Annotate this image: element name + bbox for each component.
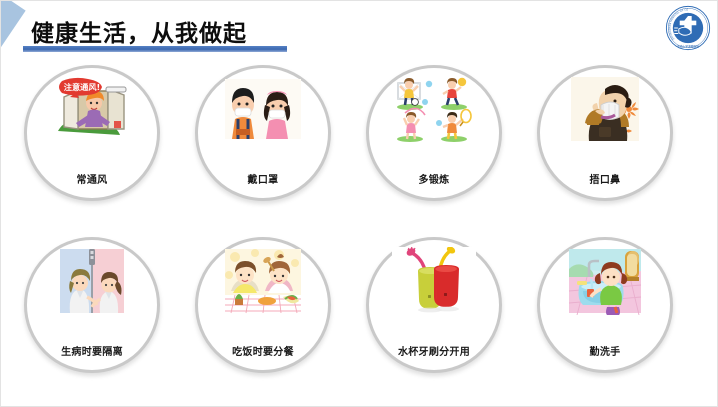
tip-card-cover-mouth[interactable]: 捂口鼻 [520, 61, 690, 211]
page-title: 健康生活，从我做起 [31, 14, 247, 48]
tip-label: 常通风 [7, 171, 177, 186]
prevention-tips-grid: 注意通风! 常通风 [1, 61, 718, 406]
tip-card-separate-meals[interactable]: 吃饭时要分餐 [178, 233, 348, 383]
tip-card-exercise[interactable]: 多锻炼 [349, 61, 519, 211]
separate-meals-icon [221, 247, 305, 315]
isolate-when-sick-icon [50, 247, 134, 315]
tip-label: 水杯牙刷分开用 [349, 343, 519, 358]
hospital-emblem-logo: ZHONGSHAN HOSPITAL OF CENTRAL SOUTH UNIV… [665, 5, 711, 51]
tip-label: 捂口鼻 [520, 171, 690, 186]
corner-band-outer [1, 1, 26, 53]
tip-label: 戴口罩 [178, 171, 348, 186]
separate-cup-toothbrush-icon [392, 247, 476, 315]
slide-canvas: 健康生活，从我做起 ZHONGSHAN HOSPITAL OF CENTRAL … [0, 0, 718, 407]
cover-mouth-nose-icon [563, 75, 647, 143]
tip-label: 勤洗手 [520, 343, 690, 358]
tip-card-wear-mask[interactable]: 戴口罩 [178, 61, 348, 211]
tip-card-isolate[interactable]: 生病时要隔离 [7, 233, 177, 383]
svg-text:中南大学湘雅医院: 中南大学湘雅医院 [677, 44, 699, 48]
children-exercising-icon [392, 75, 476, 143]
title-underline-rule [23, 46, 287, 52]
wash-hands-icon [563, 247, 647, 315]
children-wearing-masks-icon [221, 75, 305, 143]
tip-label: 多锻炼 [349, 171, 519, 186]
tip-card-ventilate[interactable]: 注意通风! 常通风 [7, 61, 177, 211]
tip-label: 吃饭时要分餐 [178, 343, 348, 358]
tip-card-wash-hands[interactable]: 勤洗手 [520, 233, 690, 383]
svg-text:注意通风!: 注意通风! [64, 82, 100, 92]
tip-label: 生病时要隔离 [7, 343, 177, 358]
tip-card-separate-cup[interactable]: 水杯牙刷分开用 [349, 233, 519, 383]
open-window-ventilation-icon: 注意通风! [50, 75, 134, 143]
